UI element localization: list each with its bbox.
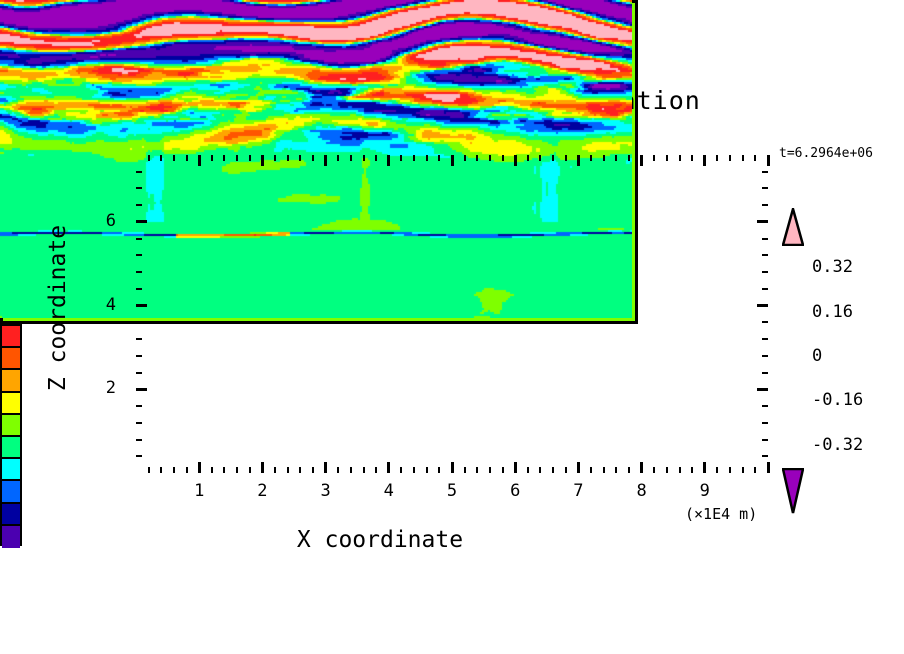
colorbar-tick-label: 0.16 bbox=[812, 302, 853, 322]
tick-mark bbox=[186, 467, 188, 473]
x-tick-label: 7 bbox=[563, 481, 593, 501]
x-tick-label: 9 bbox=[690, 481, 720, 501]
tick-mark bbox=[148, 467, 150, 473]
tick-mark bbox=[527, 155, 529, 161]
tick-mark bbox=[312, 155, 314, 161]
tick-mark bbox=[679, 467, 681, 473]
tick-mark bbox=[136, 355, 142, 357]
tick-mark bbox=[565, 467, 567, 473]
tick-mark bbox=[757, 388, 768, 391]
tick-mark bbox=[236, 467, 238, 473]
tick-mark bbox=[173, 155, 175, 161]
tick-mark bbox=[539, 155, 541, 161]
tick-mark bbox=[136, 288, 142, 290]
tick-mark bbox=[136, 220, 147, 223]
tick-mark bbox=[476, 467, 478, 473]
tick-mark bbox=[754, 467, 756, 473]
x-tick-label: 6 bbox=[500, 481, 530, 501]
tick-mark bbox=[489, 467, 491, 473]
colorbar bbox=[0, 324, 22, 546]
tick-mark bbox=[387, 462, 390, 473]
tick-mark bbox=[489, 155, 491, 161]
tick-mark bbox=[136, 321, 142, 323]
tick-mark bbox=[211, 155, 213, 161]
tick-mark bbox=[413, 155, 415, 161]
tick-mark bbox=[716, 155, 718, 161]
y-axis-title: Z coordinate bbox=[45, 188, 71, 428]
tick-mark bbox=[729, 467, 731, 473]
tick-mark bbox=[400, 155, 402, 161]
tick-mark bbox=[287, 155, 289, 161]
x-axis-title: X coordinate bbox=[0, 527, 760, 553]
tick-mark bbox=[324, 462, 327, 473]
tick-mark bbox=[136, 372, 142, 374]
tick-mark bbox=[363, 155, 365, 161]
tick-mark bbox=[762, 271, 768, 273]
colorbar-band bbox=[2, 415, 20, 437]
tick-mark bbox=[350, 155, 352, 161]
tick-mark bbox=[464, 467, 466, 473]
contour-field-canvas bbox=[0, 0, 632, 318]
tick-mark bbox=[287, 467, 289, 473]
tick-mark bbox=[552, 155, 554, 161]
tick-mark bbox=[136, 187, 142, 189]
tick-mark bbox=[757, 304, 768, 307]
tick-mark bbox=[136, 304, 147, 307]
tick-mark bbox=[679, 155, 681, 161]
tick-mark bbox=[160, 155, 162, 161]
tick-mark bbox=[762, 372, 768, 374]
colorbar-tick-label: -0.32 bbox=[812, 435, 863, 455]
tick-mark bbox=[136, 338, 142, 340]
tick-mark bbox=[438, 467, 440, 473]
tick-mark bbox=[577, 155, 580, 166]
tick-mark bbox=[716, 467, 718, 473]
tick-mark bbox=[198, 462, 201, 473]
tick-mark bbox=[640, 462, 643, 473]
tick-mark bbox=[628, 467, 630, 473]
tick-mark bbox=[653, 467, 655, 473]
colorbar-band bbox=[2, 370, 20, 392]
tick-mark bbox=[236, 155, 238, 161]
x-axis-unit-label: (×1E4 m) bbox=[685, 505, 757, 523]
tick-mark bbox=[502, 467, 504, 473]
tick-mark bbox=[666, 467, 668, 473]
tick-mark bbox=[136, 388, 147, 391]
tick-mark bbox=[703, 155, 706, 166]
tick-mark bbox=[299, 155, 301, 161]
tick-mark bbox=[615, 155, 617, 161]
tick-mark bbox=[413, 467, 415, 473]
colorbar-tick-label: -0.16 bbox=[812, 390, 863, 410]
colorbar-tick-label: 0.32 bbox=[812, 257, 853, 277]
colorbar-band bbox=[2, 459, 20, 481]
tick-mark bbox=[590, 155, 592, 161]
contour-plot-area bbox=[0, 0, 638, 324]
tick-mark bbox=[527, 467, 529, 473]
tick-mark bbox=[577, 462, 580, 473]
tick-mark bbox=[387, 155, 390, 166]
tick-mark bbox=[274, 155, 276, 161]
tick-mark bbox=[729, 155, 731, 161]
tick-mark bbox=[136, 171, 142, 173]
tick-mark bbox=[767, 462, 770, 473]
tick-mark bbox=[173, 467, 175, 473]
tick-mark bbox=[274, 467, 276, 473]
colorbar-extend-low bbox=[782, 468, 804, 514]
tick-mark bbox=[324, 155, 327, 166]
tick-mark bbox=[136, 204, 142, 206]
tick-mark bbox=[249, 155, 251, 161]
tick-mark bbox=[514, 155, 517, 166]
colorbar-tick-label: 0 bbox=[812, 346, 822, 366]
timestamp-annotation: t=6.2964e+06 bbox=[779, 146, 873, 161]
tick-mark bbox=[136, 405, 142, 407]
tick-mark bbox=[136, 439, 142, 441]
tick-mark bbox=[426, 155, 428, 161]
tick-mark bbox=[299, 467, 301, 473]
tick-mark bbox=[514, 462, 517, 473]
colorbar-band bbox=[2, 504, 20, 526]
tick-mark bbox=[754, 155, 756, 161]
tick-mark bbox=[223, 467, 225, 473]
tick-mark bbox=[762, 338, 768, 340]
tick-mark bbox=[762, 288, 768, 290]
tick-mark bbox=[603, 155, 605, 161]
tick-mark bbox=[136, 254, 142, 256]
tick-mark bbox=[198, 155, 201, 166]
tick-mark bbox=[762, 254, 768, 256]
tick-mark bbox=[438, 155, 440, 161]
tick-mark bbox=[603, 467, 605, 473]
tick-mark bbox=[703, 462, 706, 473]
x-tick-label: 8 bbox=[627, 481, 657, 501]
tick-mark bbox=[691, 467, 693, 473]
tick-mark bbox=[628, 155, 630, 161]
tick-mark bbox=[742, 155, 744, 161]
tick-mark bbox=[653, 155, 655, 161]
tick-mark bbox=[502, 155, 504, 161]
tick-mark bbox=[762, 455, 768, 457]
colorbar-band bbox=[2, 326, 20, 348]
tick-mark bbox=[350, 467, 352, 473]
tick-mark bbox=[337, 155, 339, 161]
y-tick-label: 2 bbox=[92, 378, 116, 398]
y-tick-label: 6 bbox=[92, 211, 116, 231]
x-tick-label: 2 bbox=[247, 481, 277, 501]
tick-mark bbox=[186, 155, 188, 161]
tick-mark bbox=[666, 155, 668, 161]
colorbar-extend-high bbox=[782, 208, 804, 246]
tick-mark bbox=[375, 467, 377, 473]
tick-mark bbox=[762, 204, 768, 206]
tick-mark bbox=[451, 462, 454, 473]
colorbar-band bbox=[2, 393, 20, 415]
tick-mark bbox=[312, 467, 314, 473]
tick-mark bbox=[757, 220, 768, 223]
tick-mark bbox=[762, 187, 768, 189]
tick-mark bbox=[136, 271, 142, 273]
tick-mark bbox=[640, 155, 643, 166]
tick-mark bbox=[464, 155, 466, 161]
tick-mark bbox=[565, 155, 567, 161]
colorbar-band bbox=[2, 481, 20, 503]
tick-mark bbox=[476, 155, 478, 161]
colorbar-band bbox=[2, 348, 20, 370]
tick-mark bbox=[223, 155, 225, 161]
tick-mark bbox=[426, 467, 428, 473]
tick-mark bbox=[762, 238, 768, 240]
tick-mark bbox=[211, 467, 213, 473]
tick-mark bbox=[148, 155, 150, 161]
x-tick-label: 1 bbox=[184, 481, 214, 501]
tick-mark bbox=[363, 467, 365, 473]
tick-mark bbox=[762, 171, 768, 173]
tick-mark bbox=[451, 155, 454, 166]
tick-mark bbox=[400, 467, 402, 473]
tick-mark bbox=[762, 422, 768, 424]
tick-mark bbox=[762, 321, 768, 323]
tick-mark bbox=[539, 467, 541, 473]
tick-mark bbox=[762, 355, 768, 357]
tick-mark bbox=[742, 467, 744, 473]
tick-mark bbox=[337, 467, 339, 473]
tick-mark bbox=[615, 467, 617, 473]
tick-mark bbox=[762, 439, 768, 441]
tick-mark bbox=[136, 238, 142, 240]
tick-mark bbox=[762, 405, 768, 407]
tick-mark bbox=[767, 155, 770, 166]
tick-mark bbox=[261, 462, 264, 473]
colorbar-band bbox=[2, 437, 20, 459]
tick-mark bbox=[136, 422, 142, 424]
tick-mark bbox=[552, 467, 554, 473]
tick-mark bbox=[261, 155, 264, 166]
tick-mark bbox=[691, 155, 693, 161]
x-tick-label: 3 bbox=[311, 481, 341, 501]
tick-mark bbox=[136, 455, 142, 457]
tick-mark bbox=[590, 467, 592, 473]
x-tick-label: 5 bbox=[437, 481, 467, 501]
tick-mark bbox=[160, 467, 162, 473]
tick-mark bbox=[375, 155, 377, 161]
x-tick-label: 4 bbox=[374, 481, 404, 501]
tick-mark bbox=[249, 467, 251, 473]
y-tick-label: 4 bbox=[92, 295, 116, 315]
